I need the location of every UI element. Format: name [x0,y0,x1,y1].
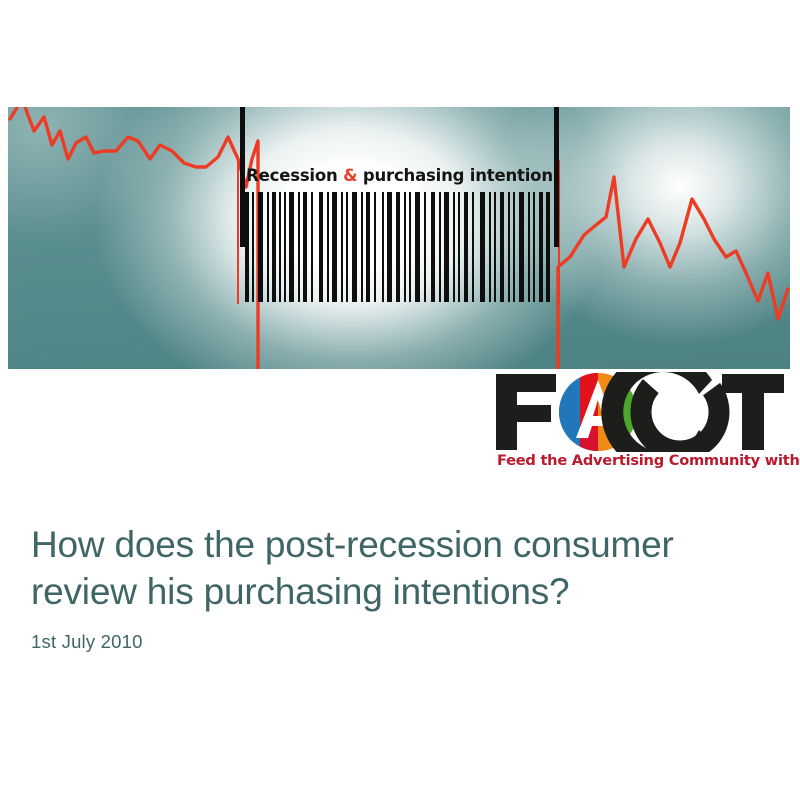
barcode-edge-bar-right [554,107,559,247]
trendline-right-series [558,177,788,369]
barcode-title-bar: Recession & purchasing intention [240,162,559,192]
page-heading: How does the post-recession consumer rev… [31,521,761,615]
page-date: 1st July 2010 [31,631,761,653]
trendline-left-series [10,107,258,369]
barcode-graphic: Recession & purchasing intention [240,162,559,302]
recession-banner-image: Recession & purchasing intention [8,107,790,369]
barcode-title-ampersand: & [343,166,357,185]
barcode-bars-svg [245,192,550,302]
barcode-bars [245,192,550,302]
title-block: How does the post-recession consumer rev… [31,521,761,653]
logo-letter-f [496,374,556,450]
fact-wordmark [494,372,786,452]
logo-letter-c-ring [626,372,735,452]
barcode-left-red-rail [237,160,239,304]
barcode-title-text: Recession & purchasing intention [245,168,554,187]
logo-letter-t [722,374,784,450]
fact-logo: Feed the Advertising Community with Tren… [494,372,786,478]
fact-tagline: Feed the Advertising Community with Tren… [497,454,789,469]
